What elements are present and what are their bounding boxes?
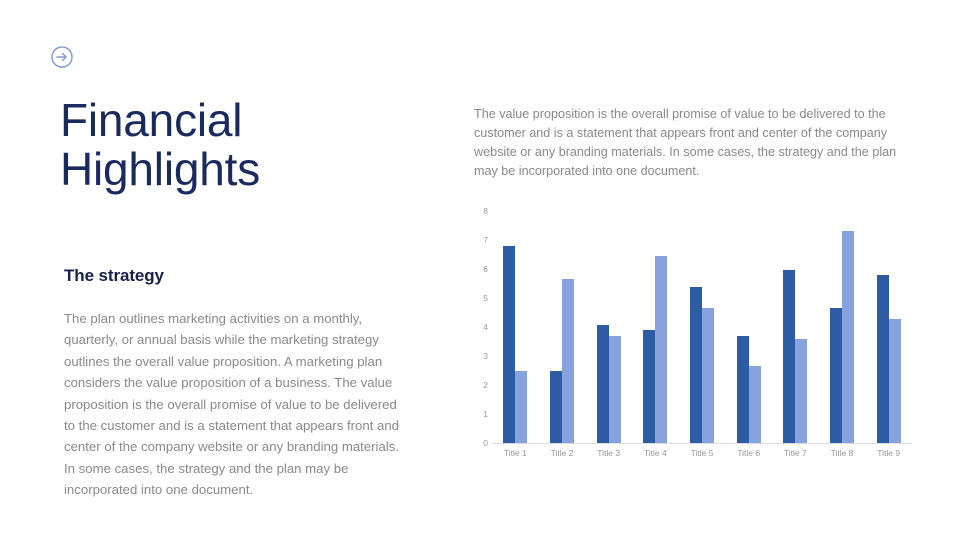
bar-group (865, 211, 912, 443)
bar-series-1 (877, 275, 889, 443)
bar-group (819, 211, 866, 443)
left-body-paragraph: The plan outlines marketing activities o… (64, 308, 404, 500)
bar-series-2 (655, 256, 667, 443)
bar-series-1 (643, 330, 655, 443)
x-axis-tick-label: Title 8 (819, 448, 866, 458)
bar-group (772, 211, 819, 443)
bar-series-1 (597, 325, 609, 443)
bar-series-1 (690, 287, 702, 443)
bar-series-2 (702, 308, 714, 443)
bar-series-2 (842, 231, 854, 443)
bar-series-1 (737, 336, 749, 443)
section-heading: The strategy (64, 266, 164, 286)
x-axis-tick-label: Title 1 (492, 448, 539, 458)
right-body-paragraph: The value proposition is the overall pro… (474, 105, 922, 182)
bar-group (585, 211, 632, 443)
bar-series-2 (515, 371, 527, 443)
bar-group (539, 211, 586, 443)
left-content-column: Financial Highlights The strategy The pl… (60, 96, 410, 194)
chart-x-axis-line (492, 443, 912, 444)
bar-group (725, 211, 772, 443)
page-title: Financial Highlights (60, 96, 410, 194)
bar-series-1 (550, 371, 562, 444)
x-axis-tick-label: Title 4 (632, 448, 679, 458)
bar-series-1 (783, 270, 795, 443)
y-axis-tick-label: 1 (466, 409, 488, 419)
bar-series-2 (749, 366, 761, 443)
bar-series-1 (830, 308, 842, 443)
y-axis-tick-label: 7 (466, 235, 488, 245)
x-axis-tick-label: Title 3 (585, 448, 632, 458)
y-axis-tick-label: 0 (466, 438, 488, 448)
bar-group (679, 211, 726, 443)
chart-plot-area (492, 211, 912, 443)
x-axis-tick-label: Title 7 (772, 448, 819, 458)
bar-series-2 (609, 336, 621, 443)
bar-series-1 (503, 246, 515, 443)
y-axis-tick-label: 6 (466, 264, 488, 274)
x-axis-tick-label: Title 2 (539, 448, 586, 458)
bar-series-2 (562, 279, 574, 443)
y-axis-tick-label: 8 (466, 206, 488, 216)
bar-series-2 (889, 319, 901, 443)
logo-circle-arrow-right-icon (50, 45, 74, 69)
bar-group (632, 211, 679, 443)
y-axis-tick-label: 5 (466, 293, 488, 303)
bar-series-2 (795, 339, 807, 443)
x-axis-tick-label: Title 9 (865, 448, 912, 458)
x-axis-tick-label: Title 6 (725, 448, 772, 458)
circle-arrow-right-icon (50, 45, 74, 69)
y-axis-tick-label: 3 (466, 351, 488, 361)
bar-group (492, 211, 539, 443)
y-axis-tick-label: 2 (466, 380, 488, 390)
bar-chart: 012345678 Title 1Title 2Title 3Title 4Ti… (466, 203, 918, 465)
y-axis-tick-label: 4 (466, 322, 488, 332)
x-axis-tick-label: Title 5 (679, 448, 726, 458)
